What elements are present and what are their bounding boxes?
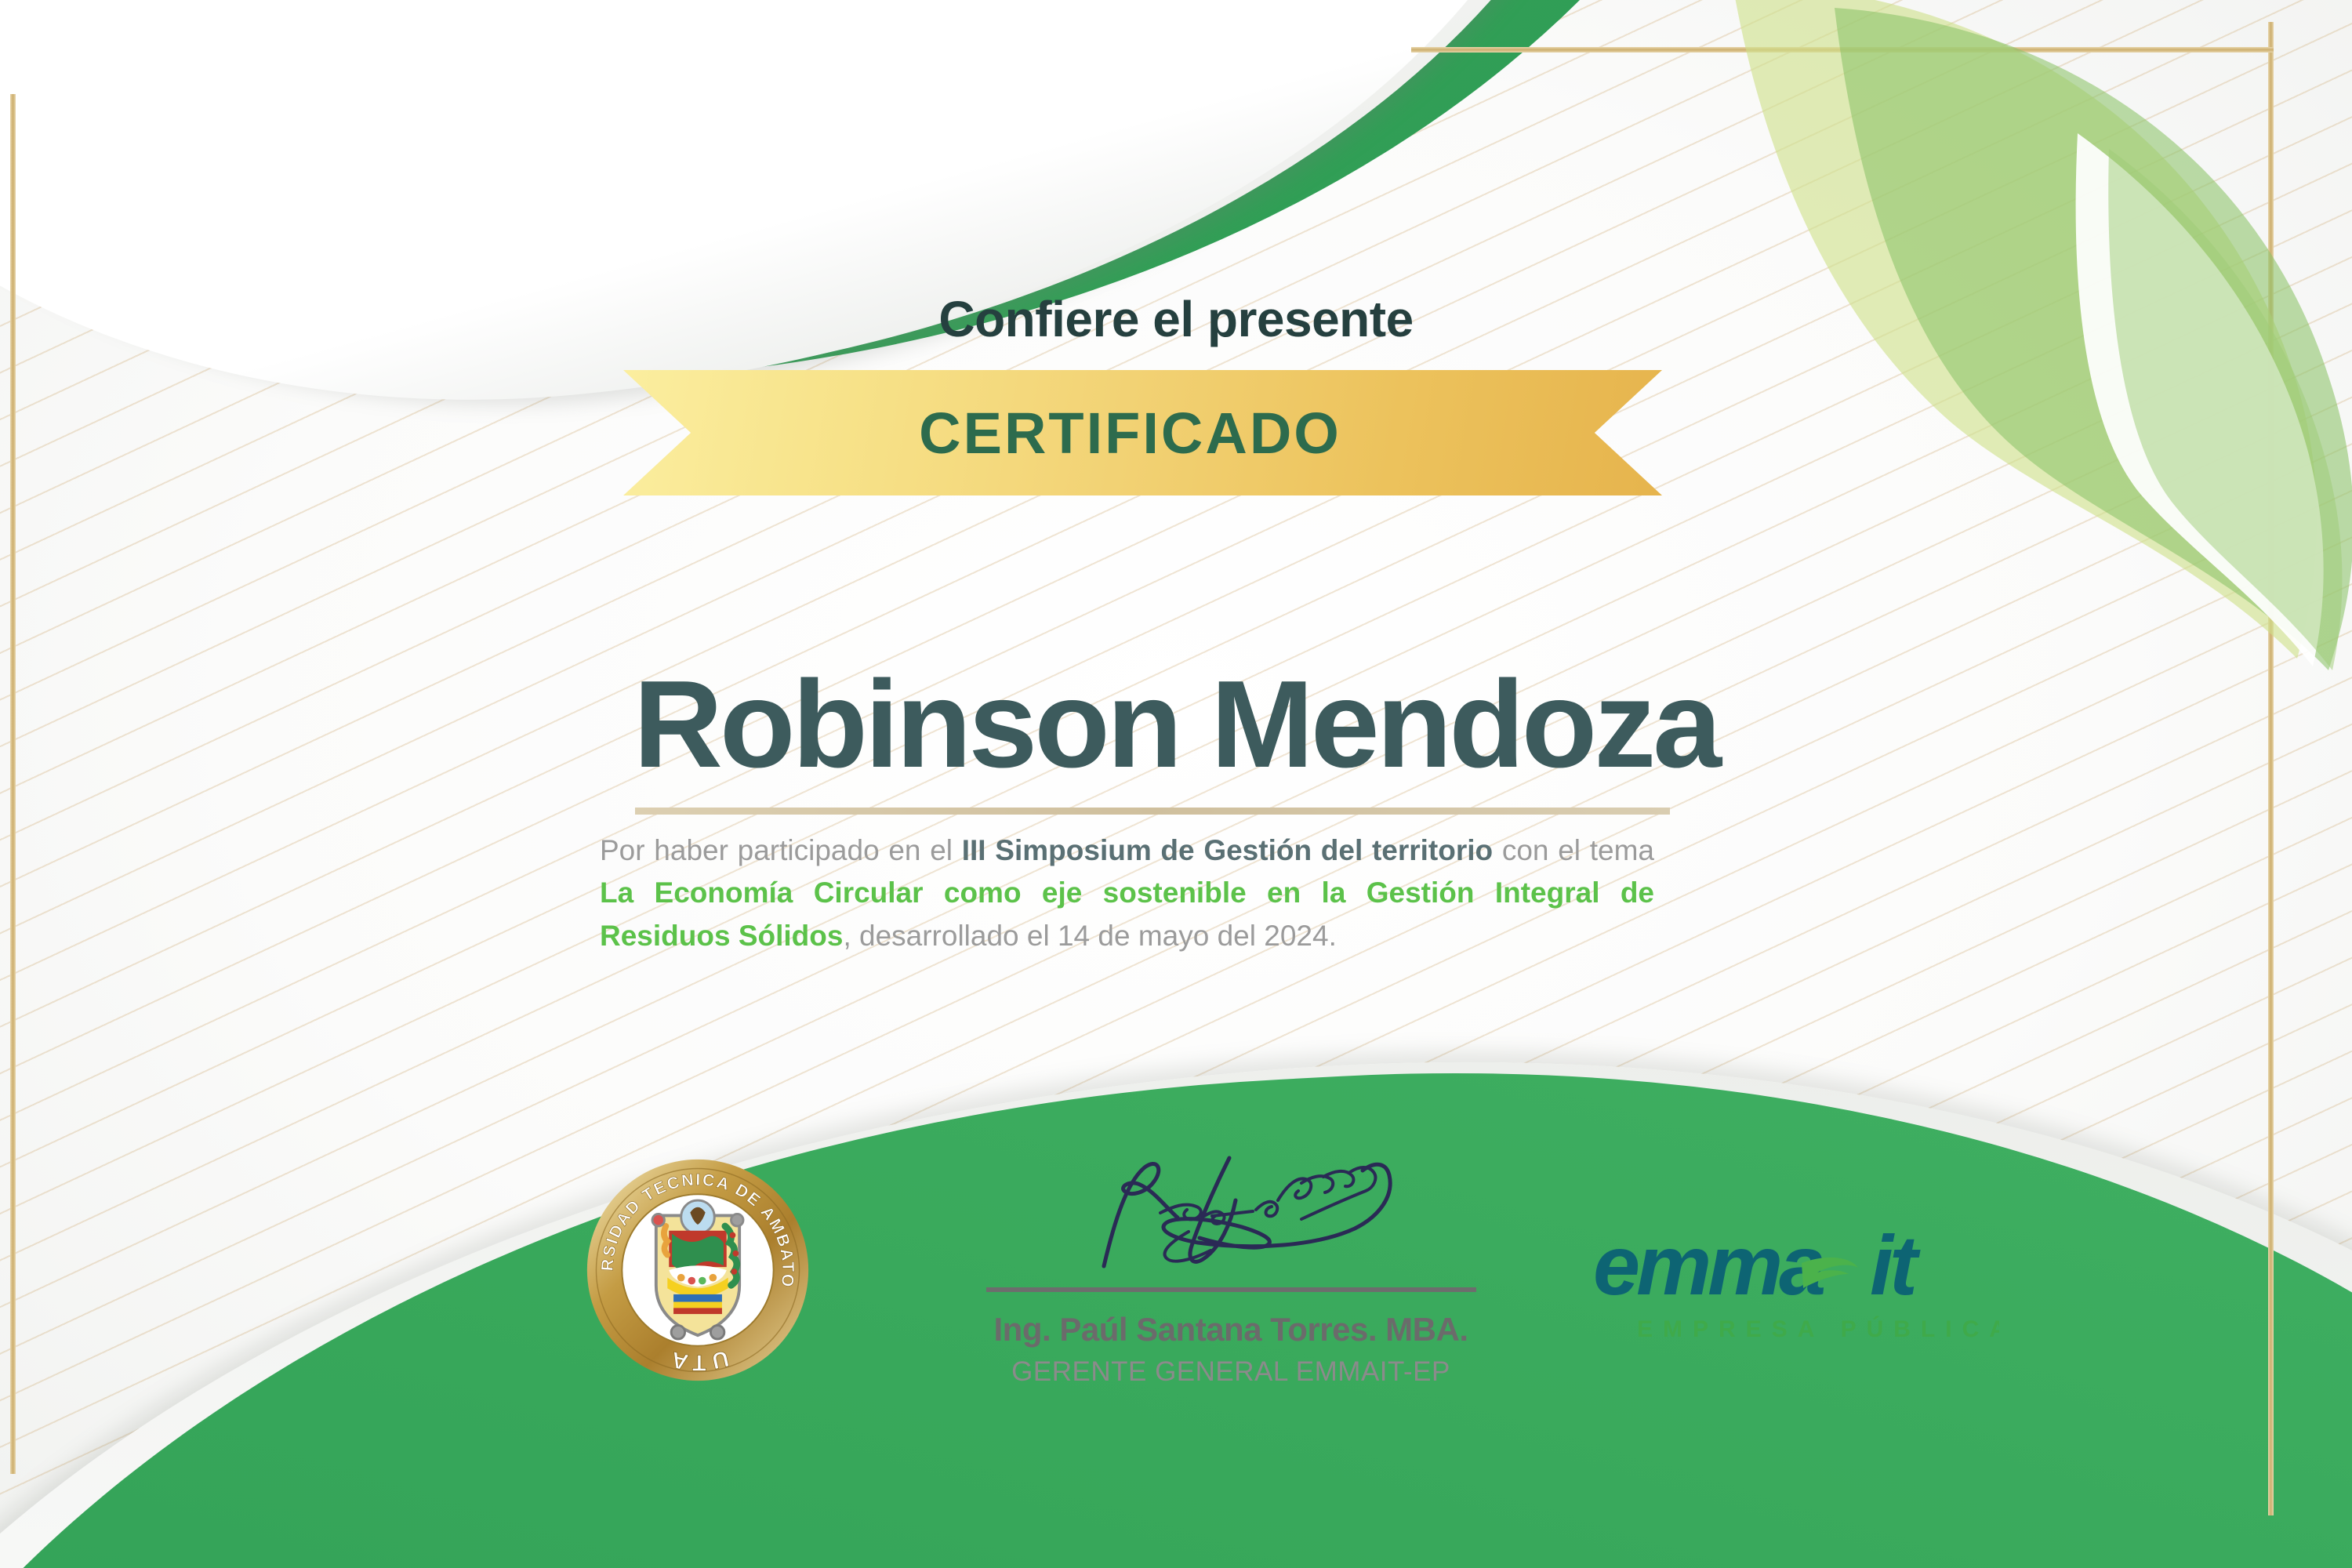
- certificate-document: Confiere el presente CERTIFICADO Robinso…: [0, 0, 2352, 1568]
- ribbon-label: CERTIFICADO: [919, 400, 1341, 466]
- recipient-name: Robinson Mendoza: [0, 662, 2352, 786]
- certificado-ribbon-banner: CERTIFICADO: [623, 370, 1662, 495]
- uta-seal-icon: UNIVERSIDAD TECNICA DE AMBATO UTA: [584, 1156, 811, 1384]
- svg-text:emma: emma: [1593, 1219, 1824, 1312]
- body-part-1: Por haber participado en el: [600, 834, 962, 866]
- emmait-logo: emma it EMPRESA PÚBLICA: [1592, 1219, 1999, 1352]
- signature-block: Ing. Paúl Santana Torres. MBA. GERENTE G…: [956, 1141, 1505, 1388]
- svg-text:it: it: [1870, 1219, 1921, 1312]
- body-event-name: III Simposium de Gestión del territorio: [962, 834, 1493, 866]
- certificate-footer: UNIVERSIDAD TECNICA DE AMBATO UTA: [0, 1141, 2352, 1501]
- page-title: Confiere el presente: [0, 290, 2352, 348]
- certificate-body-text: Por haber participado en el III Simposiu…: [600, 829, 1654, 957]
- recipient-underline: [635, 808, 1670, 815]
- handwritten-signature-icon: [1043, 1141, 1419, 1286]
- signatory-role: GERENTE GENERAL EMMAIT-EP: [956, 1356, 1505, 1388]
- svg-text:UTA: UTA: [665, 1345, 731, 1374]
- body-part-2: con el tema: [1493, 834, 1654, 866]
- signature-line: [986, 1287, 1476, 1292]
- emmait-tagline: EMPRESA PÚBLICA: [1637, 1316, 1999, 1342]
- signatory-name: Ing. Paúl Santana Torres. MBA.: [956, 1311, 1505, 1348]
- body-part-3: , desarrollado el 14 de mayo del 2024.: [843, 920, 1336, 952]
